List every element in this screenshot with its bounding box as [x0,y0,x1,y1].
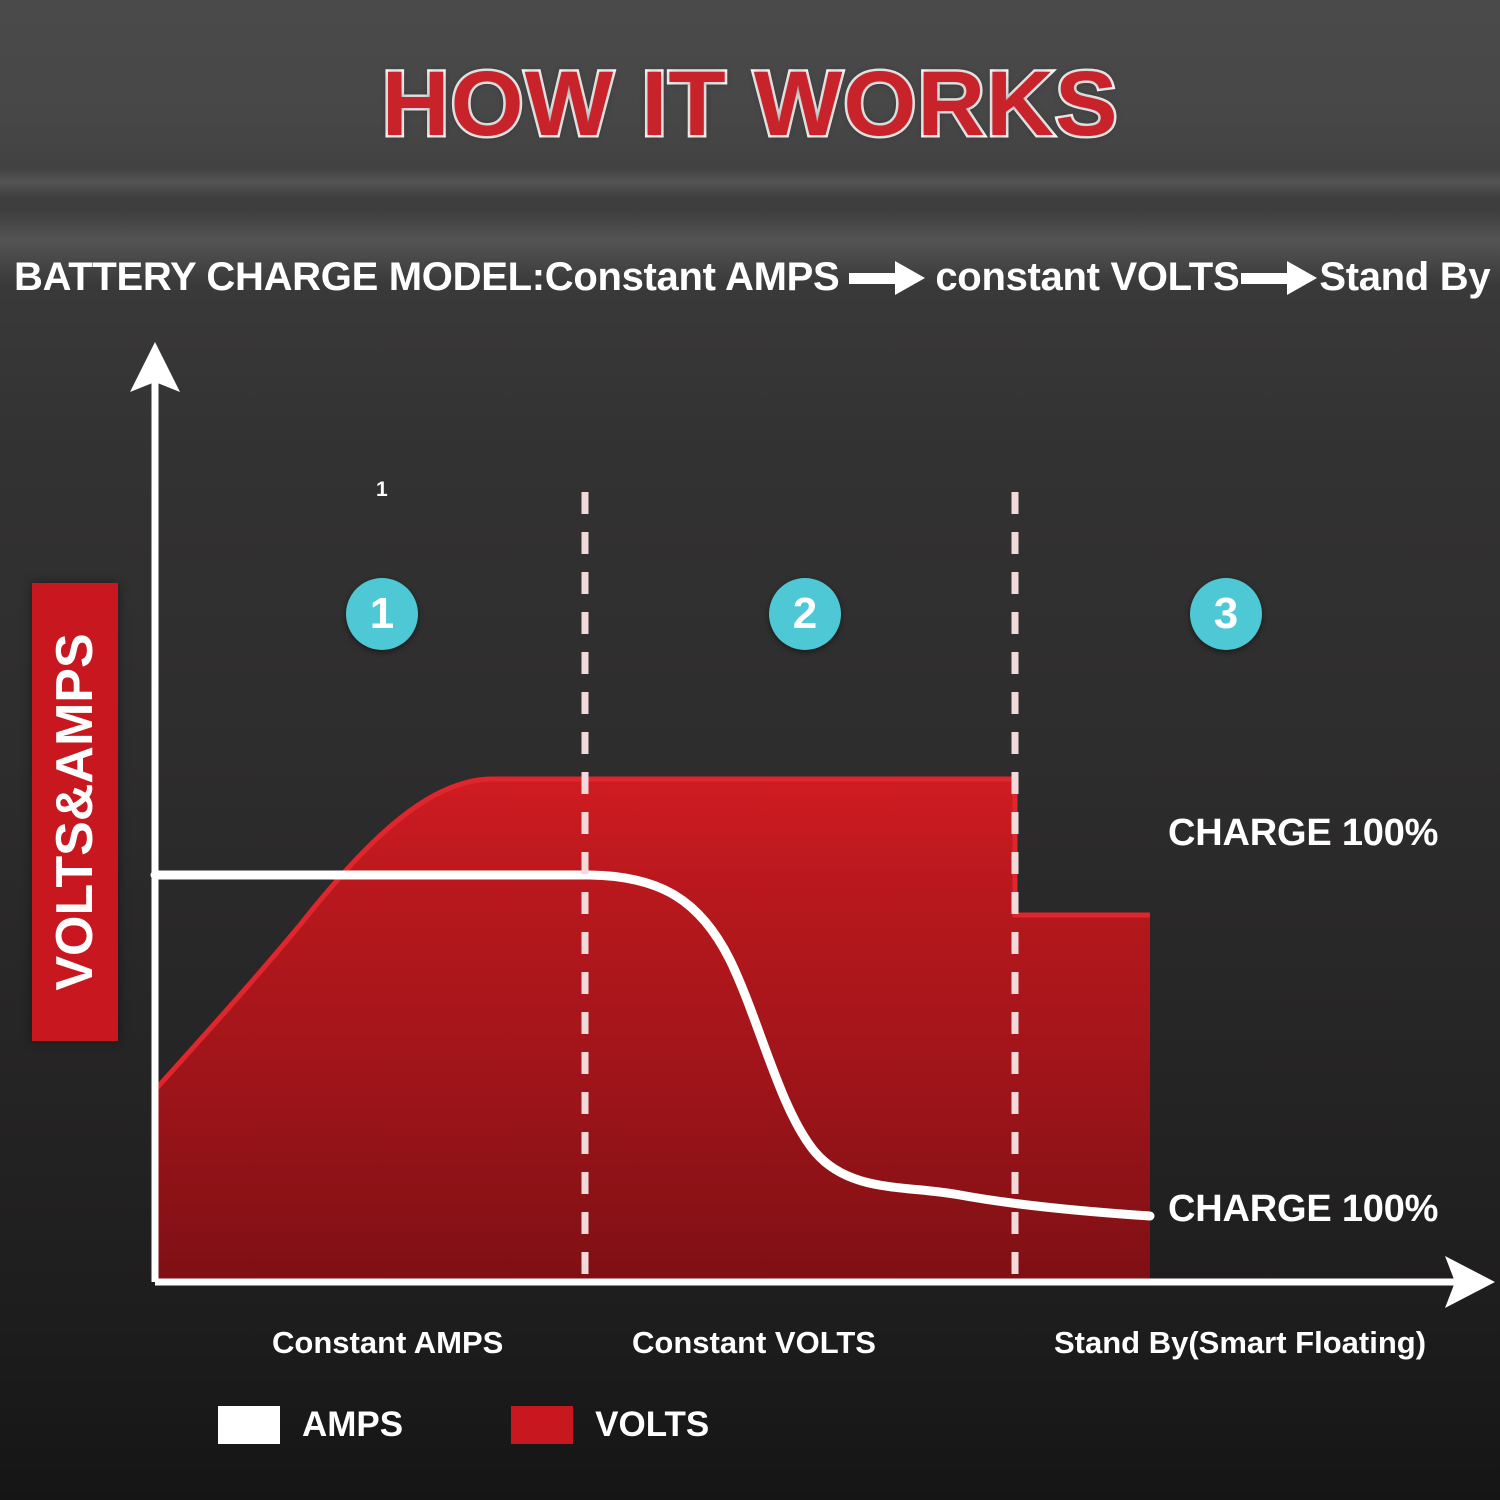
legend-swatch-amps [218,1406,280,1444]
phase-badge-2-label: 2 [793,589,817,639]
x-axis-category-stand-by: Stand By(Smart Floating) [1054,1325,1426,1361]
phase-badge-3-label: 3 [1214,589,1238,639]
chart-legend: AMPS VOLTS [218,1405,709,1445]
charge-label-bottom: CHARGE 100% [1168,1188,1438,1231]
infographic-canvas: HOW IT WORKS BATTERY CHARGE MODEL:Consta… [0,0,1500,1500]
phase-badge-1-label: 1 [370,589,394,639]
charge-label-top: CHARGE 100% [1168,812,1438,855]
phase-badge-2[interactable]: 2 [769,578,841,650]
phase-badge-1[interactable]: 1 [346,578,418,650]
volts-area [155,779,1150,1282]
phase-badge-3[interactable]: 3 [1190,578,1262,650]
phase-1-tiny-marker: 1 [376,478,388,502]
charge-curve-plot [0,0,1500,1500]
x-axis-category-constant-amps: Constant AMPS [272,1325,503,1361]
legend-label-amps: AMPS [302,1405,403,1445]
legend-item-volts: VOLTS [511,1405,709,1445]
legend-item-amps: AMPS [218,1405,403,1445]
legend-label-volts: VOLTS [595,1405,709,1445]
x-axis-category-constant-volts: Constant VOLTS [632,1325,876,1361]
legend-swatch-volts [511,1406,573,1444]
